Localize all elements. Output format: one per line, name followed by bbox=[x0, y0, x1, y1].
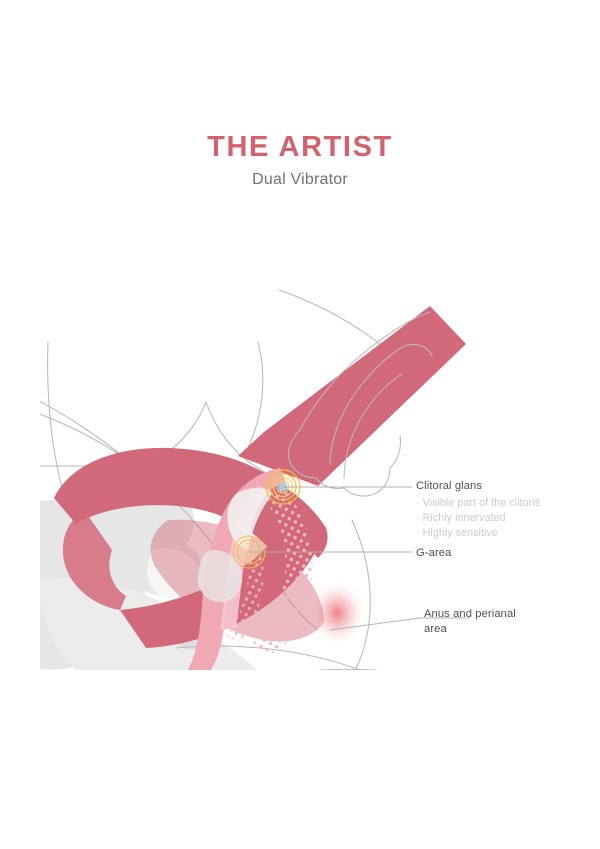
callout-title-anus-perianal: Anus and perianal area bbox=[424, 607, 534, 637]
product-anatomy-infographic: THE ARTIST Dual Vibrator bbox=[0, 0, 600, 849]
anus-perianal-glow-icon bbox=[307, 579, 367, 647]
callout-bullet: Visible part of the clitoris bbox=[416, 496, 540, 511]
callout-anus-perianal[interactable]: Anus and perianal area bbox=[424, 607, 534, 637]
callout-bullet: Highly sensitive bbox=[416, 526, 540, 541]
callout-bullet: Richly innervated bbox=[416, 511, 540, 526]
callout-g-area[interactable]: G-area bbox=[416, 546, 451, 561]
page-title: THE ARTIST bbox=[0, 132, 600, 162]
callout-clitoral-glans[interactable]: Clitoral glans Visible part of the clito… bbox=[416, 479, 540, 541]
callout-title-clitoral-glans: Clitoral glans bbox=[416, 479, 540, 494]
callout-title-g-area: G-area bbox=[416, 546, 451, 561]
header: THE ARTIST Dual Vibrator bbox=[0, 132, 600, 189]
page-subtitle: Dual Vibrator bbox=[0, 171, 600, 189]
callout-bullets-clitoral-glans: Visible part of the clitoris Richly inne… bbox=[416, 496, 540, 541]
